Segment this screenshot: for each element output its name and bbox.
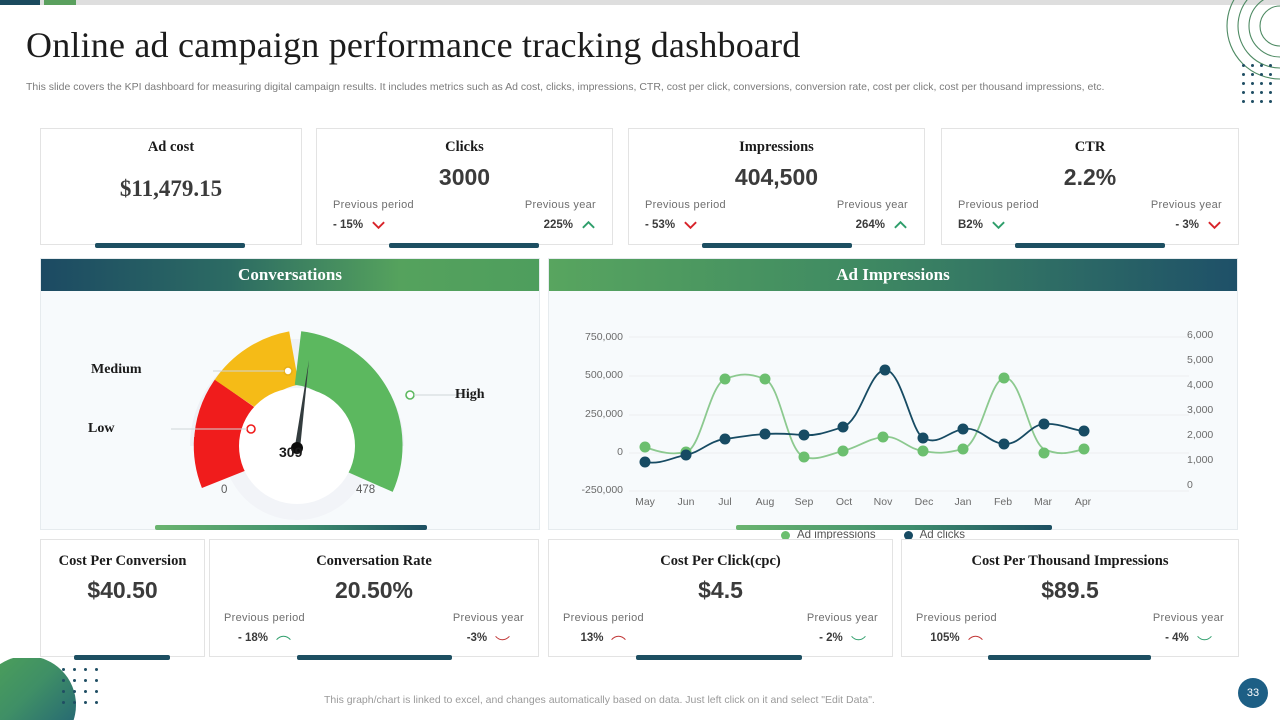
x-tick-7: Dec	[910, 496, 938, 508]
panel-title-conversations: Conversations	[41, 259, 539, 291]
chevron-down-icon	[371, 220, 386, 230]
panel-ad-impressions: Ad Impressions	[548, 258, 1238, 530]
kpi-title: Ad cost	[41, 139, 301, 156]
kpi-prev-year-label: Previous year	[453, 612, 524, 624]
slide-root: Online ad campaign performance tracking …	[0, 0, 1280, 720]
kpi-prev-period-value: B2%	[958, 219, 983, 231]
panel-accent-bar-conversations	[155, 525, 427, 530]
kpi-prev-year: Previous year - 4%	[1153, 612, 1224, 644]
kpi-accent-bar-cost-per-thousand-impressions	[988, 655, 1151, 660]
kpi-prev-year: Previous year -3%	[453, 612, 524, 644]
page-subtitle: This slide covers the KPI dashboard for …	[26, 80, 1176, 95]
kpi-title: Conversation Rate	[210, 552, 538, 571]
kpi-prev-period-label: Previous period	[645, 199, 766, 211]
kpi-card-cost-per-click[interactable]: Cost Per Click(cpc) $4.5 Previous period…	[548, 539, 893, 657]
kpi-prev-year-value: 225%	[544, 219, 573, 231]
kpi-prev-period: Previous period 13%	[563, 612, 644, 644]
kpi-card-cost-per-thousand-impressions[interactable]: Cost Per Thousand Impressions $89.5 Prev…	[901, 539, 1239, 657]
y-right-tick-5: 5,000	[1187, 354, 1213, 366]
kpi-accent-bar-impressions	[702, 243, 852, 248]
kpi-title: Impressions	[629, 139, 924, 156]
x-tick-8: Jan	[949, 496, 977, 508]
y-left-tick-2: 250,000	[577, 408, 623, 420]
kpi-accent-bar-ctr	[1015, 243, 1165, 248]
kpi-prev-year: Previous year 225%	[475, 199, 596, 231]
kpi-value: $89.5	[902, 577, 1238, 604]
gradient-circle-shape	[0, 658, 76, 720]
kpi-prev-period-value: - 15%	[333, 219, 363, 231]
kpi-prev-period-value: 105%	[930, 632, 959, 644]
page-title: Online ad campaign performance tracking …	[26, 24, 1026, 66]
gauge-label-medium: Medium	[91, 362, 142, 378]
kpi-comparison: Previous period - 18% Previous year -3%	[210, 612, 538, 644]
kpi-prev-period: Previous period - 18%	[224, 612, 305, 644]
kpi-prev-period: Previous period - 15%	[333, 199, 454, 231]
panel-title-ad-impressions: Ad Impressions	[549, 259, 1237, 291]
kpi-accent-bar-conversation-rate	[297, 655, 452, 660]
kpi-prev-period: Previous period B2%	[958, 199, 1079, 231]
kpi-card-clicks[interactable]: Clicks 3000 Previous period - 15% Previo…	[316, 128, 613, 245]
kpi-card-conversation-rate[interactable]: Conversation Rate 20.50% Previous period…	[209, 539, 539, 657]
gauge-label-low: Low	[88, 421, 114, 437]
kpi-prev-year: Previous year - 2%	[807, 612, 878, 644]
kpi-value: $40.50	[41, 577, 204, 604]
kpi-value: $11,479.15	[41, 176, 301, 202]
top-rule-segment-green	[44, 0, 76, 5]
kpi-title: Cost Per Thousand Impressions	[902, 552, 1238, 571]
kpi-accent-bar-cost-per-click	[636, 655, 802, 660]
page-number-badge: 33	[1238, 678, 1268, 708]
kpi-prev-year-value: - 3%	[1175, 219, 1199, 231]
kpi-card-ad-cost[interactable]: Ad cost $11,479.15	[40, 128, 302, 245]
trend-up-curve-icon	[611, 633, 626, 643]
kpi-value: 404,500	[629, 164, 924, 191]
gauge-max-label: 478	[356, 484, 375, 496]
y-left-tick-4: 750,000	[577, 331, 623, 343]
kpi-prev-year: Previous year - 3%	[1101, 199, 1222, 231]
x-tick-11: Apr	[1069, 496, 1097, 508]
kpi-prev-year-value: - 2%	[819, 632, 843, 644]
x-tick-2: Jul	[711, 496, 739, 508]
y-right-tick-4: 4,000	[1187, 379, 1213, 391]
kpi-value: 2.2%	[942, 164, 1238, 191]
top-rule	[0, 0, 1280, 5]
x-tick-1: Jun	[672, 496, 700, 508]
decor-bottom-left	[0, 658, 120, 720]
kpi-prev-year-label: Previous year	[1153, 612, 1224, 624]
chevron-down-icon	[991, 220, 1006, 230]
kpi-card-ctr[interactable]: CTR 2.2% Previous period B2% Previous ye…	[941, 128, 1239, 245]
kpi-comparison: Previous period - 15% Previous year 225%	[317, 199, 612, 231]
y-right-tick-2: 2,000	[1187, 429, 1213, 441]
kpi-prev-year-label: Previous year	[807, 612, 878, 624]
chevron-down-icon	[683, 220, 698, 230]
x-tick-4: Sep	[790, 496, 818, 508]
kpi-title: CTR	[942, 139, 1238, 156]
y-right-tick-6: 6,000	[1187, 329, 1213, 341]
kpi-comparison: Previous period B2% Previous year - 3%	[942, 199, 1238, 231]
chevron-down-icon	[1207, 220, 1222, 230]
kpi-prev-year-value: - 4%	[1165, 632, 1189, 644]
trend-up-curve-icon	[968, 633, 983, 643]
kpi-prev-period-label: Previous period	[333, 199, 454, 211]
kpi-prev-period-label: Previous period	[916, 612, 997, 624]
trend-down-curve-icon	[851, 633, 866, 643]
gauge-chart: Medium Low High 0 478 309	[41, 291, 539, 529]
chevron-up-icon	[581, 220, 596, 230]
x-tick-0: May	[631, 496, 659, 508]
kpi-comparison: Previous period - 53% Previous year 264%	[629, 199, 924, 231]
kpi-comparison: Previous period 13% Previous year - 2%	[549, 612, 892, 644]
kpi-value: 20.50%	[210, 577, 538, 604]
kpi-prev-year-value: 264%	[856, 219, 885, 231]
kpi-prev-year-label: Previous year	[475, 199, 596, 211]
x-tick-10: Mar	[1029, 496, 1057, 508]
top-rule-segment-dark	[0, 0, 40, 5]
kpi-prev-period-value: 13%	[580, 632, 603, 644]
gauge-min-label: 0	[221, 484, 227, 496]
y-right-tick-3: 3,000	[1187, 404, 1213, 416]
kpi-value: 3000	[317, 164, 612, 191]
y-right-tick-1: 1,000	[1187, 454, 1213, 466]
kpi-prev-period: Previous period - 53%	[645, 199, 766, 231]
decor-top-right	[1224, 0, 1280, 118]
gauge-svg	[41, 291, 541, 529]
kpi-prev-period-label: Previous period	[958, 199, 1079, 211]
y-left-tick-3: 500,000	[577, 369, 623, 381]
line-chart-svg	[549, 291, 1239, 529]
kpi-prev-year-value: -3%	[467, 632, 487, 644]
kpi-prev-year-label: Previous year	[1101, 199, 1222, 211]
y-left-tick-0: -250,000	[571, 484, 623, 496]
kpi-value: $4.5	[549, 577, 892, 604]
kpi-comparison: Previous period 105% Previous year - 4%	[902, 612, 1238, 644]
panel-conversations: Conversations	[40, 258, 540, 530]
trend-down-curve-icon	[1197, 633, 1212, 643]
chevron-up-icon	[893, 220, 908, 230]
footer-note: This graph/chart is linked to excel, and…	[324, 694, 1024, 706]
panel-accent-bar-ad-impressions	[736, 525, 1052, 530]
kpi-prev-period-label: Previous period	[563, 612, 644, 624]
kpi-title: Cost Per Conversion	[41, 552, 204, 571]
gauge-value-label: 309	[279, 444, 302, 460]
trend-down-curve-icon	[495, 633, 510, 643]
kpi-prev-period-value: - 53%	[645, 219, 675, 231]
kpi-prev-year-label: Previous year	[787, 199, 908, 211]
y-left-tick-1: 0	[577, 446, 623, 458]
trend-up-curve-icon	[276, 633, 291, 643]
kpi-accent-bar-clicks	[389, 243, 539, 248]
kpi-card-cost-per-conversion[interactable]: Cost Per Conversion $40.50	[40, 539, 205, 657]
kpi-title: Cost Per Click(cpc)	[549, 552, 892, 571]
kpi-title: Clicks	[317, 139, 612, 156]
x-tick-9: Feb	[989, 496, 1017, 508]
kpi-accent-bar-ad-cost	[95, 243, 245, 248]
kpi-card-impressions[interactable]: Impressions 404,500 Previous period - 53…	[628, 128, 925, 245]
kpi-prev-period: Previous period 105%	[916, 612, 997, 644]
x-tick-5: Oct	[830, 496, 858, 508]
kpi-prev-period-label: Previous period	[224, 612, 305, 624]
x-tick-6: Nov	[869, 496, 897, 508]
gauge-label-high: High	[455, 387, 485, 403]
kpi-prev-year: Previous year 264%	[787, 199, 908, 231]
x-tick-3: Aug	[751, 496, 779, 508]
y-right-tick-0: 0	[1187, 479, 1193, 491]
kpi-prev-period-value: - 18%	[238, 632, 268, 644]
line-chart: 750,000 500,000 250,000 0 -250,000 6,000…	[549, 291, 1237, 529]
